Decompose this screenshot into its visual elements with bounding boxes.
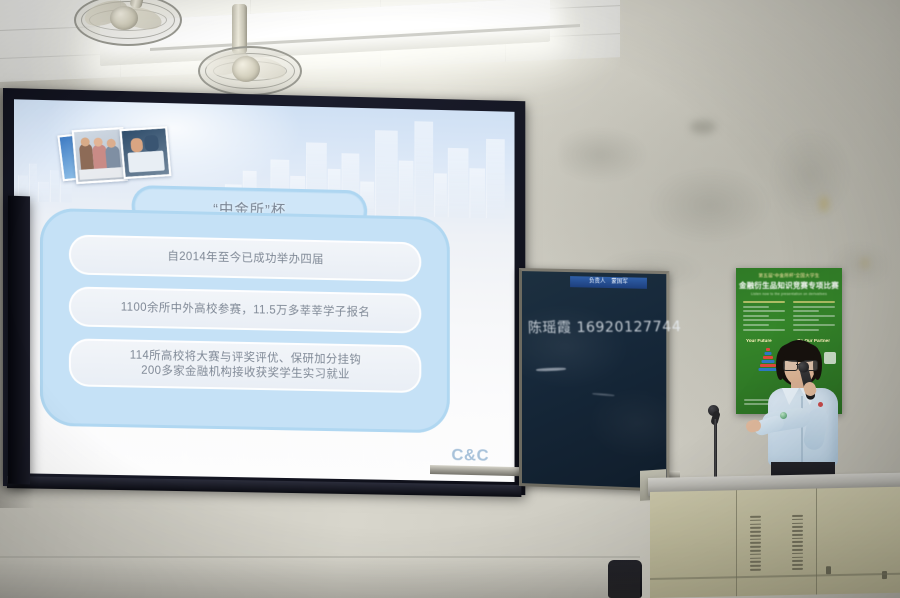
projection-screen: “中金所”杯 自2014年至今已成功举办四届 1100余所中外高校参赛，11.5… [3,88,525,495]
duty-label-role: 负责人 [590,279,606,286]
blackboard-duty-label: 负责人 蒙国军 [570,276,647,289]
ceiling-fan-left [74,0,184,50]
presentation-slide: “中金所”杯 自2014年至今已成功举办四届 1100余所中外高校参赛，11.5… [14,99,515,482]
photo-collage [58,124,170,185]
wall-stain [820,196,828,212]
bullet-line: 200多家金融机构接收获奖学生实习就业 [130,364,361,383]
slide-logo: C&C [451,445,489,465]
classroom-photo-scene: “中金所”杯 自2014年至今已成功举办四届 1100余所中外高校参赛，11.5… [0,0,900,598]
poster-column [743,301,785,337]
poster-title: 金融衍生品知识竞赛专项比赛 [736,280,842,291]
wall-stain [862,258,868,268]
cabinet-door[interactable] [816,487,900,595]
poster-english-line: Listen now to the presentation on deriva… [736,292,842,296]
screen-side-frame [8,196,30,485]
blackboard: 负责人 蒙国军 陈瑶霞 16920127744 [519,268,669,492]
slide-content-box: 自2014年至今已成功举办四届 1100余所中外高校参赛，11.5万多莘莘学子报… [40,208,450,433]
slide-bullet-row: 114所高校将大赛与评奖评优、保研加分挂钩 200多家金融机构接收获奖学生实习就… [69,338,421,393]
chalk-writing: 陈瑶霞 16920127744 [528,316,658,343]
microphone-stand [706,405,724,485]
bullet-line: 自2014年至今已成功举办四届 [157,249,333,268]
collage-photo [119,126,171,179]
storage-cabinet [650,487,900,598]
shirt-badge [780,412,787,419]
floor-shadow [0,558,640,598]
bullet-line: 1100余所中外高校参赛，11.5万多莘莘学子报名 [111,300,380,321]
cabinet-vent [792,515,803,572]
slide-bullet-row: 1100余所中外高校参赛，11.5万多莘莘学子报名 [69,286,421,333]
blackboard-surface [522,271,666,488]
cabinet-door[interactable] [736,489,817,597]
bullet-line-group: 114所高校将大赛与评奖评优、保研加分挂钩 200多家金融机构接收获奖学生实习就… [120,348,371,383]
poster-subtitle: 第五届“中金所杯”全国大学生 [736,273,842,279]
poster-column [793,301,835,337]
cabinet-lock[interactable] [826,566,831,574]
shirt-pin [818,402,823,407]
ceiling-fan-center [198,4,308,100]
poster-text-columns [743,301,835,337]
slide-bullet-row: 自2014年至今已成功举办四届 [69,234,421,282]
duty-label-name: 蒙国军 [611,279,627,286]
shirt-placket [801,396,803,462]
cabinet-vent [750,516,761,573]
wall-stain [690,120,716,134]
